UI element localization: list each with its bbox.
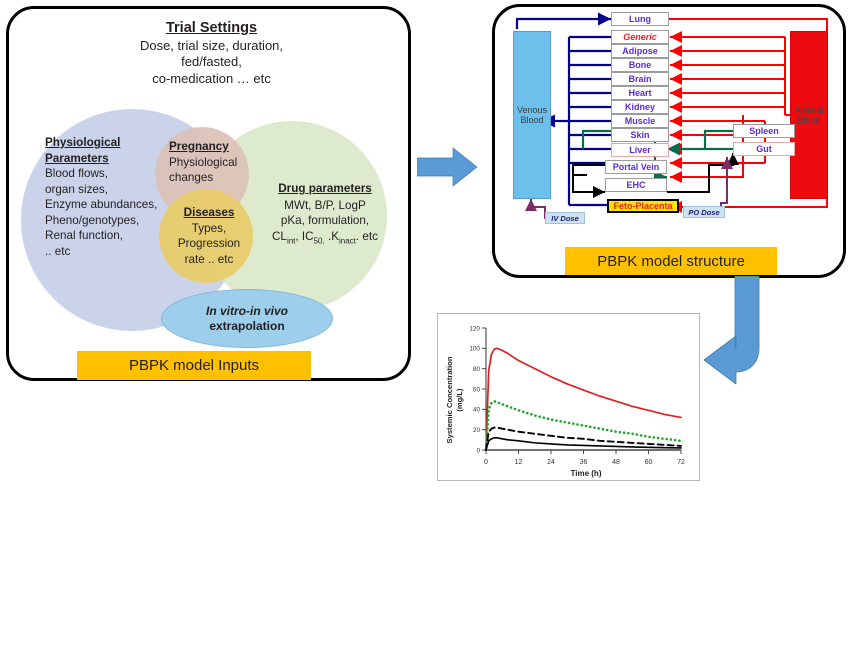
svg-text:60: 60 (645, 459, 653, 466)
systemic-concentration-chart: 020406080100120 0122436486072 Systemic C… (438, 314, 701, 482)
drug-clint-prefix: CL (272, 230, 287, 243)
ivive-ellipse: In vitro-in vivo extrapolation (161, 289, 333, 348)
drug-ic50-sub: 50, (314, 236, 325, 245)
drug-ic-prefix: , IC (295, 230, 313, 243)
pbpk-model-structure-banner: PBPK model structure (565, 247, 777, 275)
drug-line3-suffix: . etc (356, 230, 378, 243)
organ-box-gut: Gut (733, 142, 795, 156)
ivive-line-1: In vitro-in vivo (206, 304, 288, 318)
arterial-blood-label-2: Blood (797, 115, 820, 125)
organ-box-skin: Skin (611, 128, 669, 142)
arrow-inputs-to-structure-icon (417, 146, 479, 188)
arterial-blood-label-1: Arterial (795, 105, 824, 115)
svg-text:20: 20 (473, 427, 481, 434)
physiological-line-5: Renal function, (45, 229, 123, 242)
venous-blood-label-1: Venous (517, 105, 547, 115)
trial-settings-block: Trial Settings Dose, trial size, duratio… (39, 19, 384, 87)
pregnancy-line-1: Physiological (169, 156, 237, 169)
drug-line-2: pKa, formulation, (281, 214, 369, 227)
svg-text:120: 120 (469, 325, 480, 332)
organ-box-feto-placenta: Feto-Placenta (607, 199, 679, 213)
trial-settings-line-1: Dose, trial size, duration, (39, 38, 384, 55)
trial-settings-line-3: co-medication … etc (39, 71, 384, 88)
pregnancy-heading: Pregnancy (169, 139, 249, 155)
svg-text:0: 0 (476, 447, 480, 454)
physiological-line-4: Pheno/genotypes, (45, 214, 139, 227)
organ-box-spleen: Spleen (733, 124, 795, 138)
svg-text:80: 80 (473, 366, 481, 373)
trial-settings-line-2: fed/fasted, (39, 54, 384, 71)
physiological-line-1: Blood flows, (45, 167, 108, 180)
trial-settings-title: Trial Settings (39, 19, 384, 38)
drug-kinact-prefix: .K (325, 230, 339, 243)
diseases-line-3: rate .. etc (185, 253, 234, 266)
iv-dose-box: IV Dose (545, 212, 585, 224)
pregnancy-text: Pregnancy Physiological changes (169, 139, 249, 186)
chart-x-axis-label: Time (h) (571, 469, 602, 478)
organ-box-kidney: Kidney (611, 100, 669, 114)
organ-box-generic: Generic (611, 30, 669, 44)
svg-text:60: 60 (473, 386, 481, 393)
chart-y-axis-label-line2: (mg/L) (455, 388, 464, 412)
pbpk-structure-panel: Venous Blood Arterial Blood Lung Generic… (492, 4, 846, 278)
organ-box-brain: Brain (611, 72, 669, 86)
arterial-blood-compartment: Arterial Blood (790, 31, 828, 199)
physiological-line-2: organ sizes, (45, 183, 108, 196)
diseases-line-1: Types, (192, 222, 226, 235)
svg-text:12: 12 (515, 459, 523, 466)
organ-box-bone: Bone (611, 58, 669, 72)
drug-parameters-text: Drug parameters MWt, B/P, LogP pKa, form… (255, 181, 395, 247)
svg-text:0: 0 (484, 459, 488, 466)
svg-text:100: 100 (469, 346, 480, 353)
svg-text:40: 40 (473, 407, 481, 414)
pbpk-inputs-panel: Trial Settings Dose, trial size, duratio… (6, 6, 411, 381)
physiological-line-6: .. etc (45, 245, 70, 258)
svg-text:72: 72 (677, 459, 685, 466)
diseases-text: Diseases Types, Progression rate .. etc (169, 205, 249, 267)
drug-line-1: MWt, B/P, LogP (284, 199, 366, 212)
organ-box-portal-vein: Portal Vein (605, 160, 667, 174)
venous-blood-label-2: Blood (520, 115, 543, 125)
diseases-heading: Diseases (169, 205, 249, 221)
drug-heading: Drug parameters (255, 181, 395, 197)
organ-box-muscle: Muscle (611, 114, 669, 128)
venous-blood-compartment: Venous Blood (513, 31, 551, 199)
organ-box-heart: Heart (611, 86, 669, 100)
predictions-chart-panel: 020406080100120 0122436486072 Systemic C… (437, 313, 700, 481)
ivive-line-2: extrapolation (209, 319, 284, 333)
chart-series-1 (486, 401, 681, 450)
organ-box-lung: Lung (611, 12, 669, 26)
organ-box-adipose: Adipose (611, 44, 669, 58)
drug-kinact-sub: inact (339, 236, 356, 245)
svg-text:24: 24 (547, 459, 555, 466)
diseases-line-2: Progression (178, 237, 240, 250)
svg-text:48: 48 (612, 459, 620, 466)
svg-text:36: 36 (580, 459, 588, 466)
pbpk-model-inputs-banner: PBPK model Inputs (77, 351, 311, 380)
physiological-line-3: Enzyme abundances, (45, 198, 157, 211)
organ-box-liver: Liver (611, 143, 669, 157)
pregnancy-line-2: changes (169, 171, 213, 184)
chart-series-0 (486, 348, 681, 450)
drug-line-3: CLint, IC50, .Kinact. etc (272, 230, 378, 243)
po-dose-box: PO Dose (683, 206, 725, 218)
organ-box-ehc: EHC (605, 178, 667, 192)
chart-y-axis-label-line1: Systemic Concentration (445, 356, 454, 443)
